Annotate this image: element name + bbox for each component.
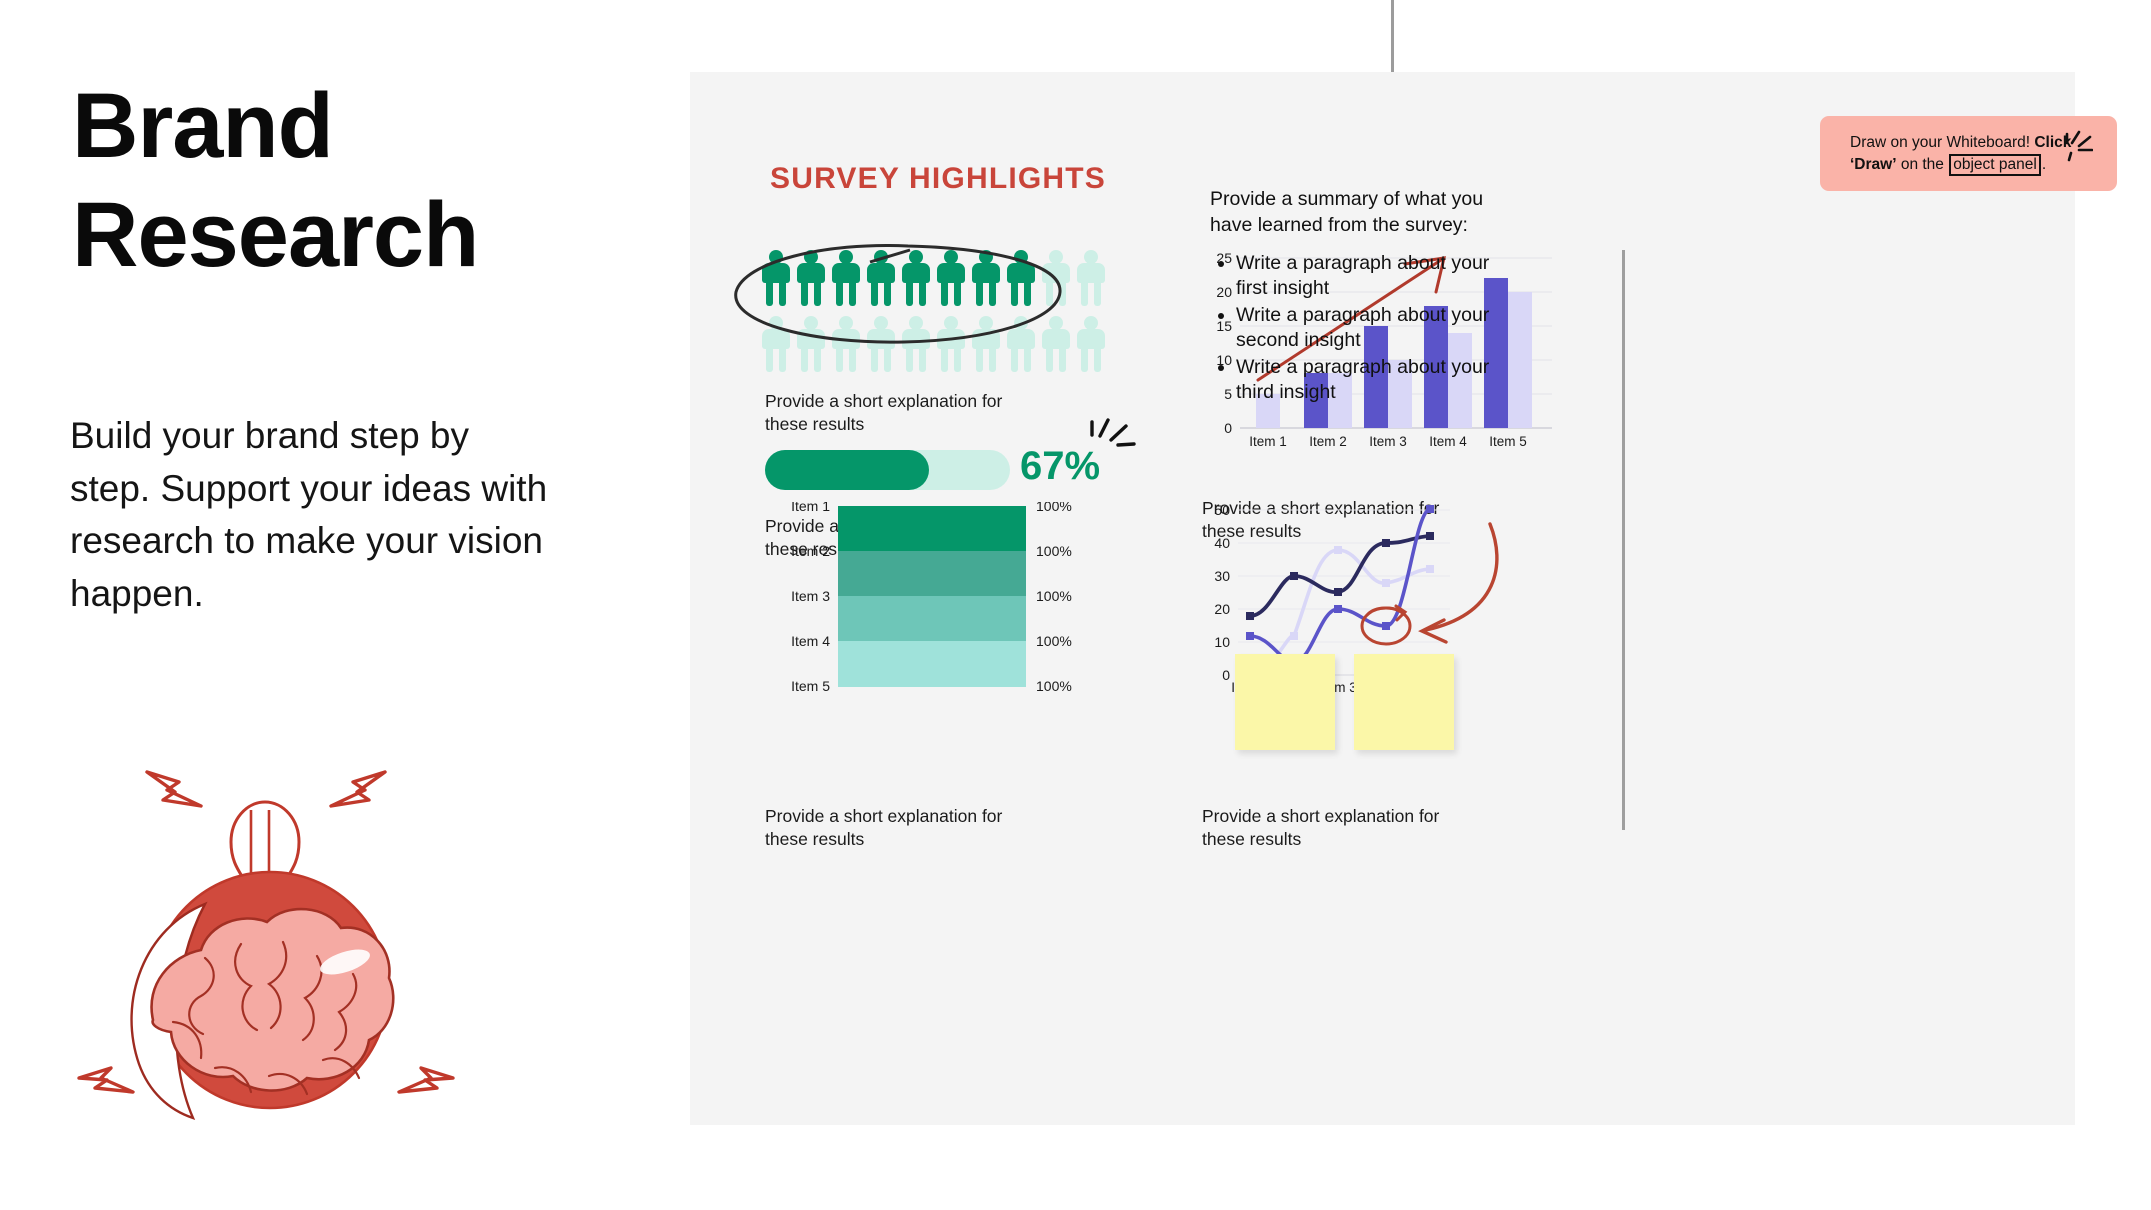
- svg-text:Item 3: Item 3: [1369, 434, 1407, 449]
- page-title: Brand Research: [72, 72, 652, 289]
- svg-text:100%: 100%: [1036, 633, 1072, 649]
- progress-fill: [765, 450, 929, 490]
- vertical-divider: [1622, 250, 1625, 830]
- curved-arrow-annotation: [1422, 524, 1497, 642]
- svg-text:100%: 100%: [1036, 543, 1072, 559]
- person-icon-muted: [1040, 316, 1072, 372]
- person-icon: [760, 250, 792, 306]
- person-icon-muted: [830, 316, 862, 372]
- vertical-guide-line: [1391, 0, 1394, 72]
- section-heading: SURVEY HIGHLIGHTS: [770, 162, 1106, 196]
- funnel-caption: Provide a short explanation for these re…: [765, 805, 1015, 852]
- sparkle-burst-icon: [1080, 418, 1140, 478]
- svg-text:50: 50: [1214, 502, 1230, 518]
- stacked-funnel-chart[interactable]: Item 1 Item 2 Item 3 Item 4 Item 5 100% …: [760, 502, 1135, 707]
- person-icon-muted: [1075, 316, 1107, 372]
- progress-track: [765, 450, 1010, 490]
- people-row-2: [760, 316, 1120, 372]
- svg-text:Item 1: Item 1: [791, 502, 830, 514]
- person-icon: [1005, 250, 1037, 306]
- summary-panel: Provide a summary of what you have learn…: [1210, 187, 1520, 407]
- person-icon-muted: [900, 316, 932, 372]
- svg-text:10: 10: [1214, 634, 1230, 650]
- svg-text:Item 4: Item 4: [791, 633, 830, 649]
- list-item: Write a paragraph about your third insig…: [1236, 355, 1520, 405]
- person-icon-muted: [935, 316, 967, 372]
- svg-text:100%: 100%: [1036, 502, 1072, 514]
- person-icon-muted: [1040, 250, 1072, 306]
- people-row-1: [760, 250, 1120, 306]
- hint-part-2: on the: [1897, 156, 1949, 173]
- svg-text:Item 5: Item 5: [1489, 434, 1527, 449]
- people-caption: Provide a short explanation for these re…: [765, 390, 1015, 437]
- whiteboard-canvas[interactable]: Draw on your Whiteboard! Click ‘Draw’ on…: [690, 72, 2075, 1125]
- svg-text:Item 3: Item 3: [791, 588, 830, 604]
- person-icon: [935, 250, 967, 306]
- person-icon: [970, 250, 1002, 306]
- person-icon-muted: [865, 316, 897, 372]
- svg-text:100%: 100%: [1036, 678, 1072, 694]
- svg-text:100%: 100%: [1036, 588, 1072, 604]
- hint-part-3: .: [2042, 156, 2046, 173]
- hint-boxed-object-panel: object panel: [1949, 154, 2041, 175]
- person-icon: [830, 250, 862, 306]
- svg-text:Item 2: Item 2: [1309, 434, 1347, 449]
- svg-text:Item 4: Item 4: [1429, 434, 1467, 449]
- page-subtitle: Build your brand step by step. Support y…: [70, 410, 550, 620]
- person-icon-muted: [1075, 250, 1107, 306]
- person-icon-muted: [970, 316, 1002, 372]
- hint-part-1: Draw on your Whiteboard!: [1850, 134, 2034, 151]
- person-icon: [900, 250, 932, 306]
- brain-lightbulb-illustration: [55, 720, 475, 1140]
- slide-root: Brand Research Build your brand step by …: [0, 0, 2151, 1210]
- svg-text:20: 20: [1214, 601, 1230, 617]
- svg-text:Item 1: Item 1: [1249, 434, 1287, 449]
- svg-text:0: 0: [1224, 420, 1232, 436]
- person-icon: [795, 250, 827, 306]
- svg-text:Item 5: Item 5: [791, 678, 830, 694]
- sticky-note[interactable]: [1235, 654, 1335, 750]
- list-item: Write a paragraph about your first insig…: [1236, 251, 1520, 301]
- progress-bar[interactable]: [765, 450, 1010, 490]
- people-pictogram: [760, 250, 1120, 375]
- line-chart-caption: Provide a short explanation for these re…: [1202, 805, 1482, 852]
- list-item: Write a paragraph about your second insi…: [1236, 303, 1520, 353]
- svg-text:30: 30: [1214, 568, 1230, 584]
- sticky-note[interactable]: [1354, 654, 1454, 750]
- person-icon-muted: [760, 316, 792, 372]
- page-title-line-2: Research: [72, 181, 652, 290]
- draw-hint-text: Draw on your Whiteboard! Click ‘Draw’ on…: [1850, 132, 2099, 177]
- page-title-line-1: Brand: [72, 72, 652, 181]
- svg-text:40: 40: [1214, 535, 1230, 551]
- summary-lead-text: Provide a summary of what you have learn…: [1210, 187, 1520, 239]
- summary-bullet-list: Write a paragraph about your first insig…: [1210, 251, 1520, 405]
- draw-hint-tooltip[interactable]: Draw on your Whiteboard! Click ‘Draw’ on…: [1820, 116, 2117, 191]
- svg-text:Item 2: Item 2: [791, 543, 830, 559]
- person-icon-muted: [795, 316, 827, 372]
- person-icon-muted: [1005, 316, 1037, 372]
- svg-text:0: 0: [1222, 667, 1230, 683]
- left-panel: Brand Research Build your brand step by …: [0, 0, 690, 1210]
- person-icon: [865, 250, 897, 306]
